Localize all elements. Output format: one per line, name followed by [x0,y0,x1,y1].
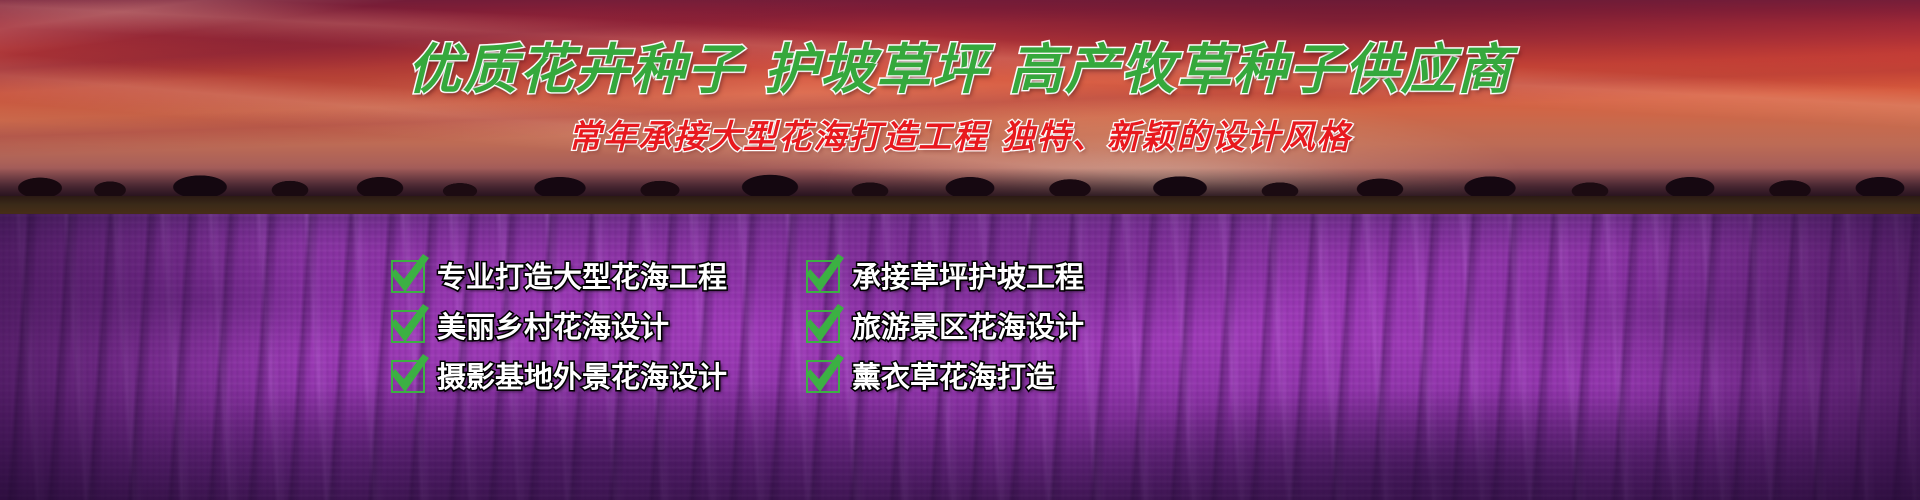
feature-checklist: 专业打造大型花海工程 承接草坪护坡工程 美丽乡村花海设计 [385,250,1185,400]
promotional-banner: 优质花卉种子 护坡草坪 高产牧草种子供应商 常年承接大型花海打造工程 独特、新颖… [0,0,1920,500]
check-mark-icon [800,306,842,344]
check-glyph [800,352,846,396]
feature-label: 专业打造大型花海工程 [437,254,727,296]
feature-item: 薰衣草花海打造 [800,354,1185,396]
check-mark-icon [385,256,427,294]
feature-label: 薰衣草花海打造 [852,354,1055,396]
feature-label: 摄影基地外景花海设计 [437,354,727,396]
check-glyph [385,352,431,396]
check-mark-icon [385,356,427,394]
check-glyph [800,252,846,296]
feature-item: 摄影基地外景花海设计 [385,354,800,396]
feature-label: 旅游景区花海设计 [852,304,1084,346]
check-glyph [800,302,846,346]
feature-item: 美丽乡村花海设计 [385,304,800,346]
check-glyph [385,252,431,296]
check-glyph [385,302,431,346]
feature-item: 承接草坪护坡工程 [800,254,1185,296]
check-mark-icon [800,256,842,294]
feature-item: 旅游景区花海设计 [800,304,1185,346]
check-mark-icon [385,306,427,344]
feature-item: 专业打造大型花海工程 [385,254,800,296]
feature-label: 美丽乡村花海设计 [437,304,669,346]
feature-label: 承接草坪护坡工程 [852,254,1084,296]
check-mark-icon [800,356,842,394]
